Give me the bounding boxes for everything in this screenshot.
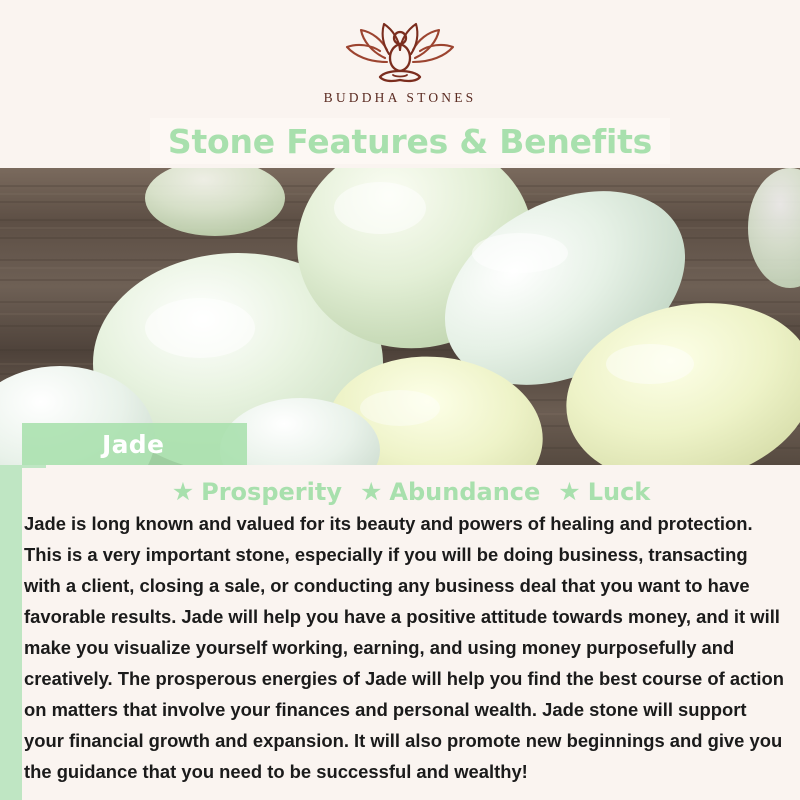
benefit-item-abundance: ★ Abundance [360, 478, 540, 506]
benefit-item-prosperity: ★ Prosperity [172, 478, 342, 506]
benefits-list: ★ Prosperity ★ Abundance ★ Luck [22, 472, 800, 512]
lotus-meditation-icon [325, 18, 475, 86]
star-icon: ★ [172, 480, 194, 505]
product-photo [0, 168, 800, 465]
brand-name: BUDDHA STONES [0, 90, 800, 106]
decorative-corner-bottom-left [0, 760, 22, 800]
brand-logo: BUDDHA STONES [0, 18, 800, 106]
stone-name-label: Jade [102, 430, 164, 459]
star-icon: ★ [558, 480, 580, 505]
title-banner: Stone Features & Benefits [150, 118, 670, 164]
benefit-label: Prosperity [201, 478, 342, 506]
benefit-label: Luck [588, 478, 651, 506]
jade-stones-image [0, 168, 800, 465]
benefit-label: Abundance [389, 478, 540, 506]
benefit-item-luck: ★ Luck [558, 478, 650, 506]
stone-description: Jade is long known and valued for its be… [22, 508, 792, 787]
star-icon: ★ [360, 480, 382, 505]
stone-name-banner: Jade [22, 423, 247, 465]
page-title: Stone Features & Benefits [168, 122, 652, 161]
